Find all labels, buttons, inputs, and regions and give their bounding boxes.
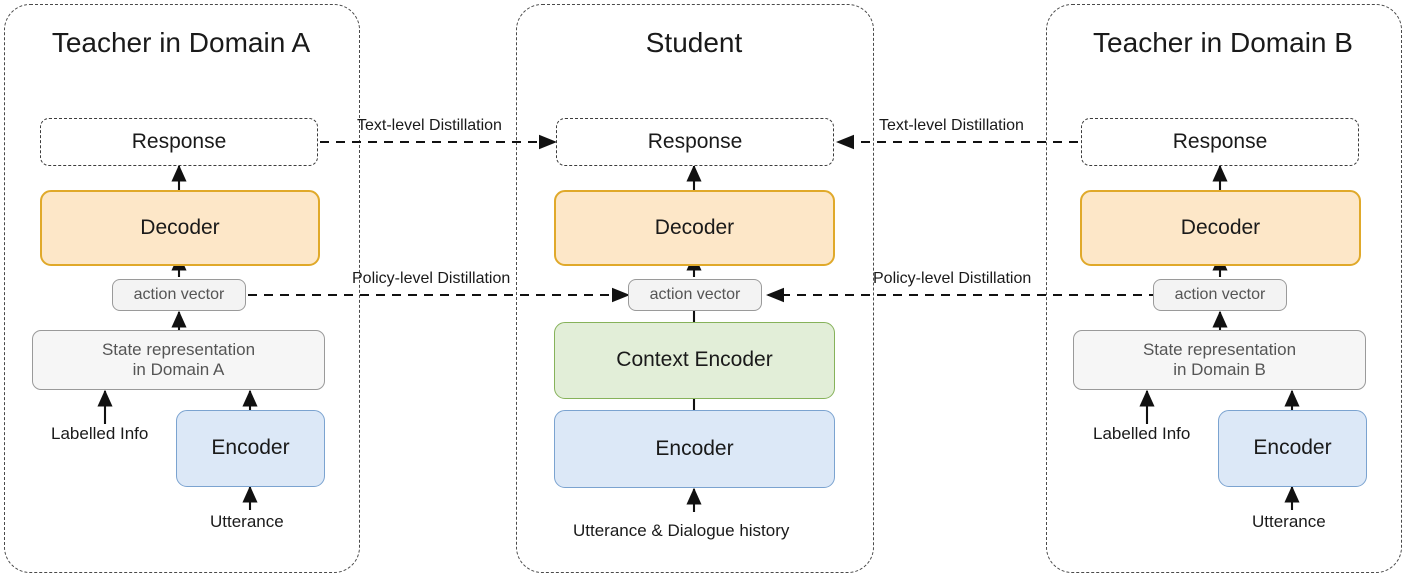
box-action-vector-teacher-b-label: action vector [1175, 286, 1266, 305]
flow-label-text-distillation-left: Text-level Distillation [357, 118, 502, 134]
box-state-representation-teacher-b: State representation in Domain B [1073, 330, 1366, 390]
box-action-vector-student: action vector [628, 279, 762, 311]
box-state-teacher-a-line2: in Domain A [133, 360, 225, 380]
box-encoder-student-label: Encoder [655, 437, 733, 462]
flow-label-policy-distillation-right: Policy-level Distillation [873, 271, 1031, 287]
box-response-student-label: Response [648, 130, 743, 155]
box-response-teacher-a: Response [40, 118, 318, 166]
box-action-vector-student-label: action vector [650, 286, 741, 305]
box-decoder-student-label: Decoder [655, 216, 734, 241]
panel-title-teacher-a: Teacher in Domain A [4, 29, 358, 57]
box-response-teacher-b-label: Response [1173, 130, 1268, 155]
caption-utterance-teacher-b: Utterance [1252, 513, 1326, 530]
box-action-vector-teacher-a: action vector [112, 279, 246, 311]
box-encoder-teacher-b-label: Encoder [1253, 436, 1331, 461]
box-state-teacher-b-line1: State representation [1143, 340, 1296, 360]
box-action-vector-teacher-a-label: action vector [134, 286, 225, 305]
box-decoder-student: Decoder [554, 190, 835, 266]
box-state-teacher-a-line1: State representation [102, 340, 255, 360]
caption-utterance-teacher-a: Utterance [210, 513, 284, 530]
box-encoder-teacher-b: Encoder [1218, 410, 1367, 487]
box-state-representation-teacher-a: State representation in Domain A [32, 330, 325, 390]
box-response-teacher-b: Response [1081, 118, 1359, 166]
box-response-student: Response [556, 118, 834, 166]
box-decoder-teacher-a: Decoder [40, 190, 320, 266]
box-action-vector-teacher-b: action vector [1153, 279, 1287, 311]
box-decoder-teacher-a-label: Decoder [140, 216, 219, 241]
caption-input-student: Utterance & Dialogue history [573, 522, 789, 539]
box-encoder-teacher-a: Encoder [176, 410, 325, 487]
box-decoder-teacher-b-label: Decoder [1181, 216, 1260, 241]
box-context-encoder-student-label: Context Encoder [616, 348, 772, 373]
caption-labelled-info-teacher-b: Labelled Info [1093, 425, 1190, 442]
box-response-teacher-a-label: Response [132, 130, 227, 155]
box-state-teacher-b-line2: in Domain B [1173, 360, 1266, 380]
flow-label-text-distillation-right: Text-level Distillation [879, 118, 1024, 134]
box-encoder-teacher-a-label: Encoder [211, 436, 289, 461]
diagram-canvas: Teacher in Domain A Student Teacher in D… [0, 0, 1404, 575]
panel-title-teacher-b: Teacher in Domain B [1046, 29, 1400, 57]
panel-title-student: Student [516, 29, 872, 57]
caption-labelled-info-teacher-a: Labelled Info [51, 425, 148, 442]
box-context-encoder-student: Context Encoder [554, 322, 835, 399]
flow-label-policy-distillation-left: Policy-level Distillation [352, 271, 510, 287]
box-encoder-student: Encoder [554, 410, 835, 488]
box-decoder-teacher-b: Decoder [1080, 190, 1361, 266]
